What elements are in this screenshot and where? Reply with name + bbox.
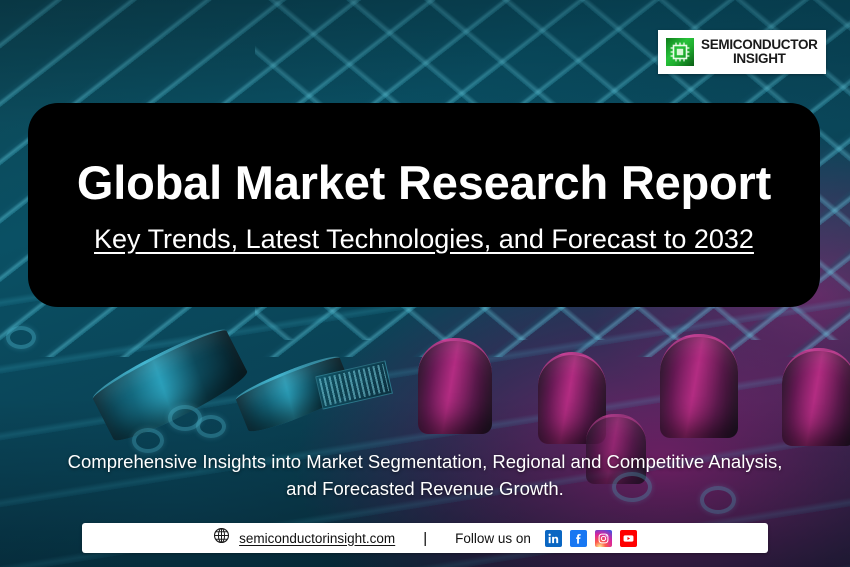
tagline-line-2: and Forecasted Revenue Growth. (22, 475, 828, 502)
website-url-text[interactable]: semiconductorinsight.com (239, 531, 395, 546)
website-link[interactable]: semiconductorinsight.com (213, 527, 395, 549)
brand-logo[interactable]: SEMICONDUCTOR INSIGHT (658, 30, 826, 74)
globe-icon (213, 527, 230, 549)
youtube-icon[interactable] (620, 530, 637, 547)
brand-name-line2: INSIGHT (701, 52, 818, 66)
social-links: Follow us on (455, 530, 637, 547)
page-subtitle: Key Trends, Latest Technologies, and For… (94, 224, 754, 255)
tagline-line-1: Comprehensive Insights into Market Segme… (22, 448, 828, 475)
linkedin-icon[interactable] (545, 530, 562, 547)
brand-logo-wordmark: SEMICONDUCTOR INSIGHT (701, 38, 818, 66)
footer-bar: semiconductorinsight.com | Follow us on (82, 523, 768, 553)
facebook-icon[interactable] (570, 530, 587, 547)
microchip-icon (666, 38, 694, 66)
instagram-icon[interactable] (595, 530, 612, 547)
tagline: Comprehensive Insights into Market Segme… (0, 448, 850, 503)
footer-divider: | (423, 530, 427, 547)
page-title: Global Market Research Report (77, 155, 771, 210)
title-card: Global Market Research Report Key Trends… (28, 103, 820, 307)
brand-name-line1: SEMICONDUCTOR (701, 38, 818, 52)
follow-us-label: Follow us on (455, 531, 531, 546)
poster-canvas: SEMICONDUCTOR INSIGHT Global Market Rese… (0, 0, 850, 567)
